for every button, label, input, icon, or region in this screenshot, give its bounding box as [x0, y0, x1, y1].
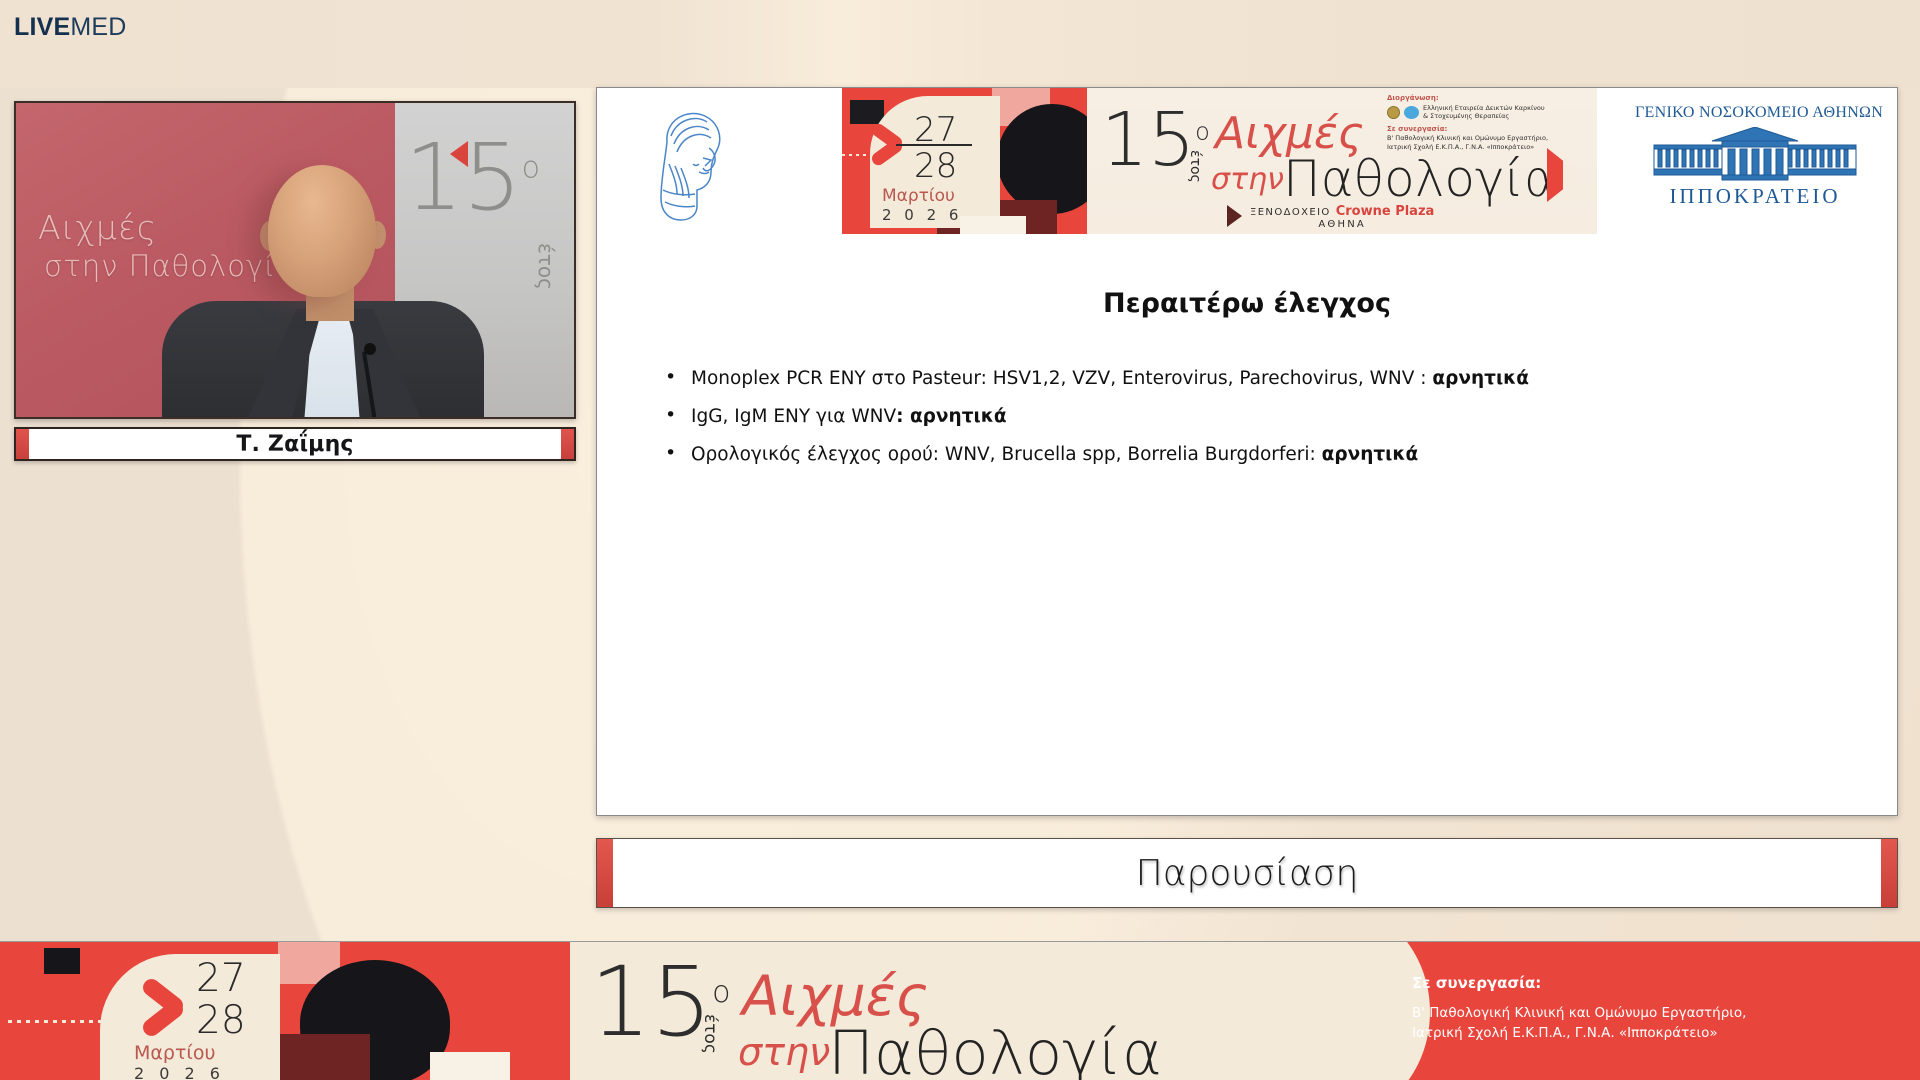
footer-dotted-line: [8, 1020, 112, 1023]
bullet-text: IgG, IgM ΕΝΥ για WNV: [691, 406, 896, 427]
banner-coop-label: Σε συνεργασία:: [1387, 125, 1592, 133]
date-tile-dark-square: [850, 100, 884, 124]
ekpa-athena-head-icon: [647, 102, 731, 226]
speaker-nameplate: Τ. Ζαΐμης: [14, 427, 576, 461]
crab-logo-icon: [1404, 106, 1419, 119]
hospital-name-line2: ΙΠΠΟΚΡΑΤΕΙΟ: [1635, 184, 1875, 209]
banner-coop-line1: Β' Παθολογική Κλινική και Ομώνυμο Εργαστ…: [1387, 134, 1592, 142]
banner-red-arrow-notch: [1563, 156, 1587, 194]
footer-etos-label: έτος: [700, 1014, 720, 1054]
conference-date-tile: 27 28 Μαρτίου 2 0 2 6: [842, 88, 1087, 234]
list-item: Monoplex PCR ΕΝΥ στο Pasteur: HSV1,2, VZ…: [657, 367, 1897, 391]
hotel-city: ΑΘΗΝΑ: [1250, 220, 1434, 231]
hotel-label: ΞΕΝΟΔΟΧΕΙΟ: [1250, 207, 1331, 218]
presentation-bar-accent-left: [597, 839, 613, 907]
banner-title-word3: Παθολογία: [1283, 150, 1557, 208]
footer-date-year: 2 0 2 6: [134, 1064, 225, 1080]
speaker-video-player[interactable]: Αιχμές στην Παθολογία 15ο έτος: [14, 101, 576, 419]
speaker-name: Τ. Ζαΐμης: [29, 432, 561, 457]
hotel-text: ΞΕΝΟΔΟΧΕΙΟCrowne Plaza ΑΘΗΝΑ: [1250, 203, 1434, 230]
banner-organizers-block: Διοργάνωση: Ελληνική Εταιρεία Δεικτών Κα…: [1387, 94, 1592, 151]
footer-number-value: 15: [590, 946, 712, 1058]
bullet-emphasis: αρνητικά: [1322, 444, 1419, 465]
footer-date-day-second: 28: [196, 998, 246, 1043]
banner-title-word2: στην: [1211, 162, 1284, 197]
footer-white-square: [430, 1052, 510, 1080]
date-tile-white-square: [960, 216, 1026, 234]
footer-title-word3: Παθολογία: [828, 1018, 1162, 1080]
banner-coop-line2: Ιατρική Σχολή Ε.Κ.Π.Α., Γ.Ν.Α. «Ιπποκράτ…: [1387, 143, 1592, 151]
presentation-label-bar[interactable]: Παρουσίαση: [596, 838, 1898, 908]
list-item: Ορολογικός έλεγχος ορού: WNV, Brucella s…: [657, 443, 1897, 467]
date-day-second: 28: [914, 146, 957, 186]
date-month: Μαρτίου: [882, 186, 955, 206]
video-degree-symbol: ο: [522, 150, 540, 185]
list-item: IgG, IgM ΕΝΥ για WNV: αρνητικά: [657, 405, 1897, 429]
hippocrateio-hospital-logo: ΓΕΝΙΚΟ ΝΟΣΟΚΟΜΕΙΟ ΑΘΗΝΩΝ: [1635, 104, 1875, 209]
footer-red-panel-left: 27 28 Μαρτίου 2 0 2 6: [0, 942, 570, 1080]
banner-number-value: 15: [1101, 97, 1195, 183]
livemed-logo-med: MED: [70, 13, 126, 41]
hospital-building-icon: [1648, 127, 1862, 181]
banner-org-label: Διοργάνωση:: [1387, 94, 1592, 102]
video-backdrop-etos: έτος: [534, 243, 558, 290]
footer-coop-line2: Ιατρική Σχολή Ε.Κ.Π.Α., Γ.Ν.Α. «Ιπποκράτ…: [1412, 1023, 1882, 1043]
banner-org-name-line1: Ελληνική Εταιρεία Δεικτών Καρκίνου: [1423, 104, 1545, 112]
banner-org-name-line2: & Στοχευμένης Θεραπείας: [1423, 112, 1545, 120]
presentation-bar-accent-right: [1881, 839, 1897, 907]
footer-degree-symbol: ο: [712, 975, 730, 1010]
bullet-text: Ορολογικός έλεγχος ορού: WNV, Brucella s…: [691, 444, 1322, 465]
conference-footer-banner: 27 28 Μαρτίου 2 0 2 6 15ο έτος Αιχμές στ…: [0, 941, 1920, 1080]
footer-coop-label: Σε συνεργασία:: [1412, 974, 1882, 992]
video-backdrop-line1: Αιχμές: [38, 208, 157, 247]
livemed-logo-live: LIVE: [14, 13, 70, 41]
footer-date-month: Μαρτίου: [134, 1042, 215, 1064]
banner-coop-text: Β' Παθολογική Κλινική και Ομώνυμο Εργαστ…: [1387, 134, 1592, 151]
video-backdrop-number: 15ο: [405, 137, 540, 220]
banner-etos-label: έτος: [1187, 150, 1203, 183]
banner-org-row: Ελληνική Εταιρεία Δεικτών Καρκίνου & Στο…: [1387, 104, 1592, 120]
nameplate-accent-left: [16, 429, 29, 459]
hotel-name: Crowne Plaza: [1336, 204, 1435, 219]
conference-banner: 15ο έτος Αιχμές στην Παθολογία Διοργάνωσ…: [1087, 88, 1597, 234]
presentation-label: Παρουσίαση: [613, 853, 1881, 894]
presentation-slide[interactable]: 27 28 Μαρτίου 2 0 2 6 15ο έτος Αιχμές στ…: [596, 87, 1898, 816]
video-number-value: 15: [405, 124, 522, 231]
footer-coop-line1: Β' Παθολογική Κλινική και Ομώνυμο Εργαστ…: [1412, 1003, 1882, 1023]
slide-header: 27 28 Μαρτίου 2 0 2 6 15ο έτος Αιχμές στ…: [597, 88, 1897, 238]
speaker-head: [268, 165, 376, 297]
footer-red-panel-right: Σε συνεργασία: Β' Παθολογική Κλινική και…: [1326, 942, 1920, 1080]
footer-cooperation-block: Σε συνεργασία: Β' Παθολογική Κλινική και…: [1412, 974, 1882, 1044]
bullet-emphasis: : αρνητικά: [896, 406, 1006, 427]
papanicolaou-seal-icon: [1387, 106, 1400, 119]
bullet-emphasis: αρνητικά: [1432, 368, 1529, 389]
slide-bullet-list: Monoplex PCR ΕΝΥ στο Pasteur: HSV1,2, VZ…: [657, 367, 1897, 467]
video-backdrop-line2: στην Παθολογία: [44, 248, 296, 284]
footer-dark-square: [44, 948, 80, 974]
bullet-text: Monoplex PCR ΕΝΥ στο Pasteur: HSV1,2, VZ…: [691, 368, 1432, 389]
banner-org-name: Ελληνική Εταιρεία Δεικτών Καρκίνου & Στο…: [1423, 104, 1545, 120]
livemed-logo[interactable]: LIVEMED: [14, 15, 127, 40]
microphone-head-icon: [364, 343, 376, 355]
banner-hotel-block: ΞΕΝΟΔΟΧΕΙΟCrowne Plaza ΑΘΗΝΑ: [1227, 203, 1434, 230]
hotel-chevron-icon: [1227, 205, 1242, 227]
hospital-name-line1: ΓΕΝΙΚΟ ΝΟΣΟΚΟΜΕΙΟ ΑΘΗΝΩΝ: [1635, 104, 1875, 122]
footer-coop-text: Β' Παθολογική Κλινική και Ομώνυμο Εργαστ…: [1412, 1003, 1882, 1044]
footer-title-word2: στην: [738, 1030, 830, 1074]
slide-title: Περαιτέρω έλεγχος: [597, 288, 1897, 319]
footer-date-day-first: 27: [196, 956, 246, 1001]
video-backdrop-text: Αιχμές στην Παθολογία: [38, 207, 296, 285]
background-top-band: [0, 0, 1920, 88]
nameplate-accent-right: [561, 429, 574, 459]
date-year: 2 0 2 6: [882, 206, 962, 224]
banner-degree-symbol: ο: [1195, 117, 1210, 145]
